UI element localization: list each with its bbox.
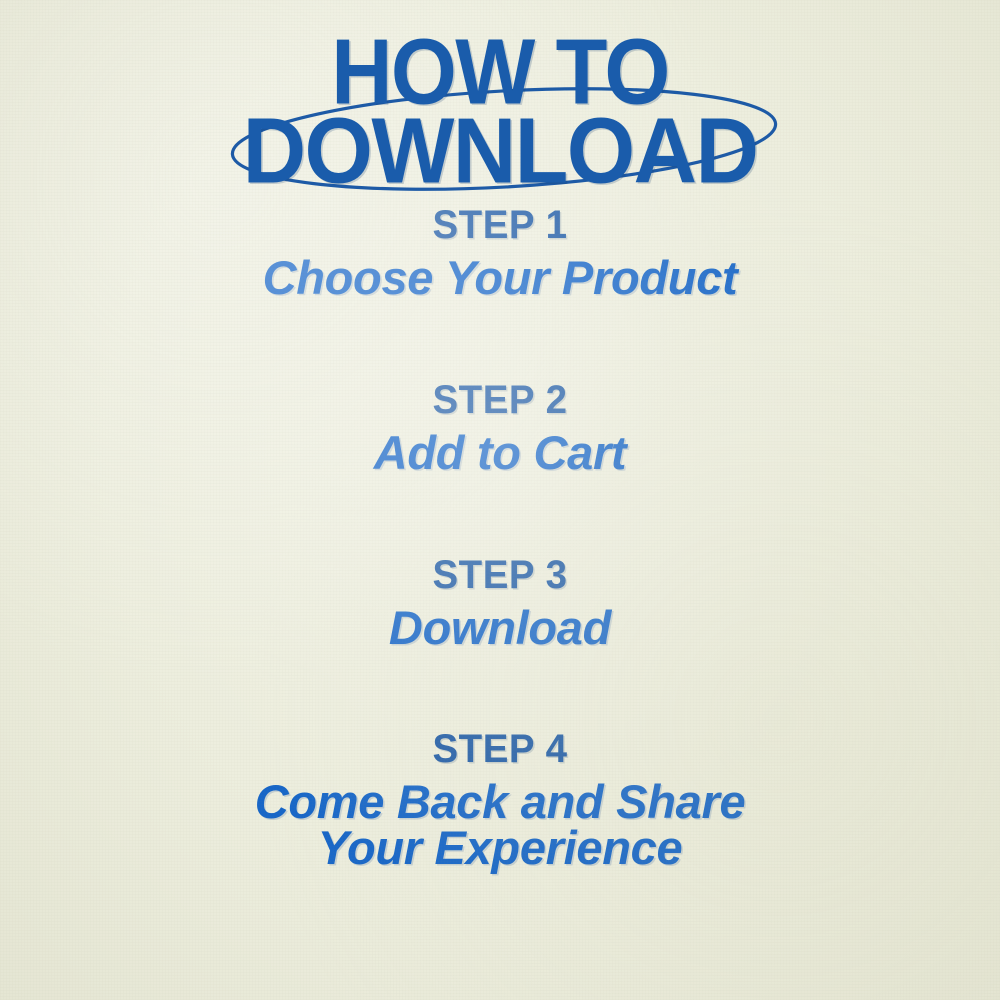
heading-block: HOW TO DOWNLOAD	[0, 34, 1000, 190]
step-title-1: Choose Your Product	[0, 253, 1000, 303]
step-label-1: STEP 1	[0, 205, 1000, 245]
step-item-3: STEP 3 Download	[0, 556, 1000, 653]
step-title-3: Download	[0, 603, 1000, 653]
step-title-4-line-1: Come Back and Share	[0, 777, 1000, 827]
step-item-2: STEP 2 Add to Cart	[0, 381, 1000, 478]
poster-canvas: HOW TO DOWNLOAD STEP 1 Choose Your Produ…	[0, 0, 1000, 1000]
step-title-4-line-2: Your Experience	[0, 823, 1000, 873]
step-label-3: STEP 3	[0, 554, 1000, 594]
heading-line-2: DOWNLOAD	[0, 107, 1000, 196]
steps-list: STEP 1 Choose Your Product STEP 2 Add to…	[0, 206, 1000, 873]
step-label-2: STEP 2	[0, 379, 1000, 419]
step-label-4: STEP 4	[0, 729, 1000, 769]
step-title-2: Add to Cart	[0, 428, 1000, 478]
step-item-1: STEP 1 Choose Your Product	[0, 206, 1000, 303]
step-item-4: STEP 4 Come Back and Share Your Experien…	[0, 730, 1000, 873]
